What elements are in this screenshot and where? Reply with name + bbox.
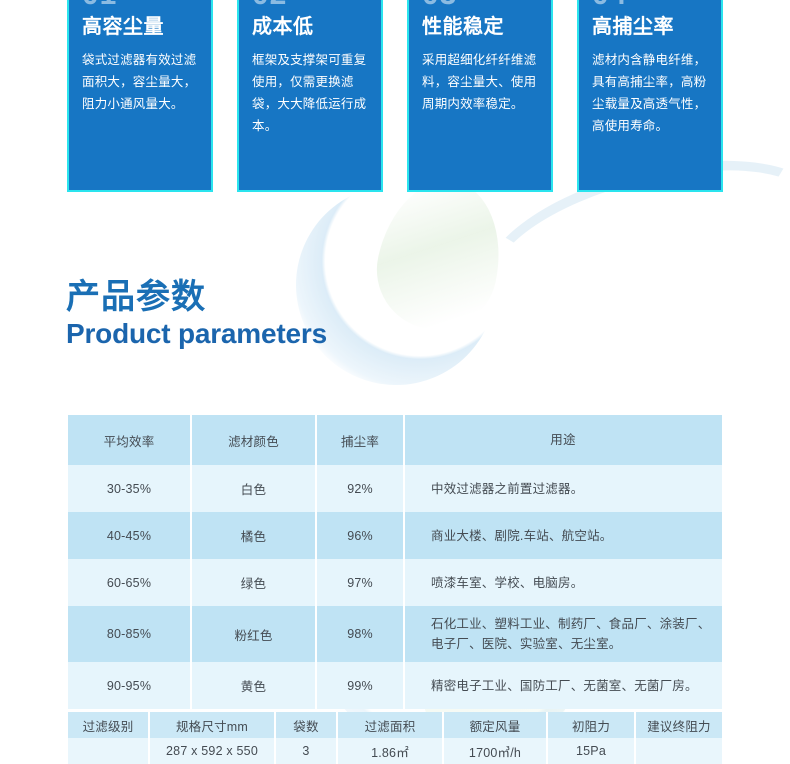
cell-filter-grade — [67, 738, 149, 764]
feature-card-desc: 滤材内含静电纤维，具有高捕尘率，高粉尘载量及高透气性，高使用寿命。 — [592, 50, 708, 138]
feature-card-02: 02 成本低 框架及支撑架可重复使用，仅需更换滤袋，大大降低运行成本。 — [237, 0, 383, 192]
section-heading: 产品参数 Product parameters — [66, 278, 327, 350]
cell-dust-rate: 98% — [316, 606, 404, 662]
feature-card-desc: 采用超细化纤纤维滤料，容尘量大、使用周期内效率稳定。 — [422, 50, 538, 116]
cell-efficiency: 90-95% — [67, 662, 191, 709]
feature-card-01: 01 高容尘量 袋式过滤器有效过滤面积大，容尘量大，阻力小通风量大。 — [67, 0, 213, 192]
cell-usage: 商业大楼、剧院.车站、航空站。 — [404, 512, 723, 559]
feature-cards: 01 高容尘量 袋式过滤器有效过滤面积大，容尘量大，阻力小通风量大。 02 成本… — [0, 0, 790, 192]
cell-dust-rate: 92% — [316, 465, 404, 512]
cell-bag-count: 3 — [275, 738, 337, 764]
spec-header-row: 过滤级别 规格尺寸mm 袋数 过滤面积 额定风量 初阻力 建议终阻力 — [67, 712, 723, 738]
column-header-usage: 用途 — [404, 415, 723, 465]
table-row: 30-35% 白色 92% 中效过滤器之前置过滤器。 — [67, 465, 723, 512]
cell-filter-color: 绿色 — [191, 559, 316, 606]
section-title-en: Product parameters — [66, 318, 327, 350]
feature-card-title: 成本低 — [252, 16, 368, 38]
feature-card-number: 04 — [592, 0, 708, 10]
section-title-cn: 产品参数 — [66, 278, 327, 316]
feature-card-number: 02 — [252, 0, 368, 10]
spec-table: 过滤级别 规格尺寸mm 袋数 过滤面积 额定风量 初阻力 建议终阻力 287 x… — [66, 712, 724, 764]
cell-rated-airflow: 1700㎥/h — [443, 738, 547, 764]
column-header-filter-grade: 过滤级别 — [67, 712, 149, 738]
main-parameters-table-container: 平均效率 滤材颜色 捕尘率 用途 30-35% 白色 92% 中效过滤器之前置过… — [66, 415, 722, 709]
column-header-rated-airflow: 额定风量 — [443, 712, 547, 738]
feature-card-desc: 框架及支撑架可重复使用，仅需更换滤袋，大大降低运行成本。 — [252, 50, 368, 138]
cell-filter-color: 橘色 — [191, 512, 316, 559]
column-header-dust-rate: 捕尘率 — [316, 415, 404, 465]
cell-efficiency: 40-45% — [67, 512, 191, 559]
cell-filter-area: 1.86㎡ — [337, 738, 443, 764]
cell-dust-rate: 96% — [316, 512, 404, 559]
feature-card-title: 高捕尘率 — [592, 16, 708, 38]
feature-card-desc: 袋式过滤器有效过滤面积大，容尘量大，阻力小通风量大。 — [82, 50, 198, 116]
cell-usage: 中效过滤器之前置过滤器。 — [404, 465, 723, 512]
feature-card-03: 03 性能稳定 采用超细化纤纤维滤料，容尘量大、使用周期内效率稳定。 — [407, 0, 553, 192]
cell-final-resistance — [635, 738, 723, 764]
cell-filter-color: 白色 — [191, 465, 316, 512]
column-header-filter-color: 滤材颜色 — [191, 415, 316, 465]
spec-row: 287 x 592 x 550 3 1.86㎡ 1700㎥/h 15Pa — [67, 738, 723, 764]
table-row: 80-85% 粉红色 98% 石化工业、塑料工业、制药厂、食品厂、涂装厂、电子厂… — [67, 606, 723, 662]
cell-efficiency: 30-35% — [67, 465, 191, 512]
main-parameters-table: 平均效率 滤材颜色 捕尘率 用途 30-35% 白色 92% 中效过滤器之前置过… — [66, 415, 724, 709]
cell-efficiency: 60-65% — [67, 559, 191, 606]
feature-card-number: 03 — [422, 0, 538, 10]
feature-card-title: 性能稳定 — [422, 16, 538, 38]
table-row: 60-65% 绿色 97% 喷漆车室、学校、电脑房。 — [67, 559, 723, 606]
column-header-initial-resistance: 初阻力 — [547, 712, 635, 738]
feature-card-title: 高容尘量 — [82, 16, 198, 38]
decorative-leaf-top — [366, 169, 515, 341]
product-parameters-page: 01 高容尘量 袋式过滤器有效过滤面积大，容尘量大，阻力小通风量大。 02 成本… — [0, 0, 790, 764]
cell-usage: 石化工业、塑料工业、制药厂、食品厂、涂装厂、电子厂、医院、实验室、无尘室。 — [404, 606, 723, 662]
cell-dust-rate: 97% — [316, 559, 404, 606]
column-header-bag-count: 袋数 — [275, 712, 337, 738]
column-header-efficiency: 平均效率 — [67, 415, 191, 465]
cell-initial-resistance: 15Pa — [547, 738, 635, 764]
cell-usage: 精密电子工业、国防工厂、无菌室、无菌厂房。 — [404, 662, 723, 709]
table-row: 90-95% 黄色 99% 精密电子工业、国防工厂、无菌室、无菌厂房。 — [67, 662, 723, 709]
column-header-size: 规格尺寸mm — [149, 712, 275, 738]
cell-usage: 喷漆车室、学校、电脑房。 — [404, 559, 723, 606]
spec-table-container: 过滤级别 规格尺寸mm 袋数 过滤面积 额定风量 初阻力 建议终阻力 287 x… — [66, 712, 722, 764]
feature-card-number: 01 — [82, 0, 198, 10]
column-header-filter-area: 过滤面积 — [337, 712, 443, 738]
cell-filter-color: 粉红色 — [191, 606, 316, 662]
cell-efficiency: 80-85% — [67, 606, 191, 662]
cell-filter-color: 黄色 — [191, 662, 316, 709]
cell-dust-rate: 99% — [316, 662, 404, 709]
feature-card-04: 04 高捕尘率 滤材内含静电纤维，具有高捕尘率，高粉尘载量及高透气性，高使用寿命… — [577, 0, 723, 192]
table-header-row: 平均效率 滤材颜色 捕尘率 用途 — [67, 415, 723, 465]
table-row: 40-45% 橘色 96% 商业大楼、剧院.车站、航空站。 — [67, 512, 723, 559]
cell-size: 287 x 592 x 550 — [149, 738, 275, 764]
column-header-final-resistance: 建议终阻力 — [635, 712, 723, 738]
